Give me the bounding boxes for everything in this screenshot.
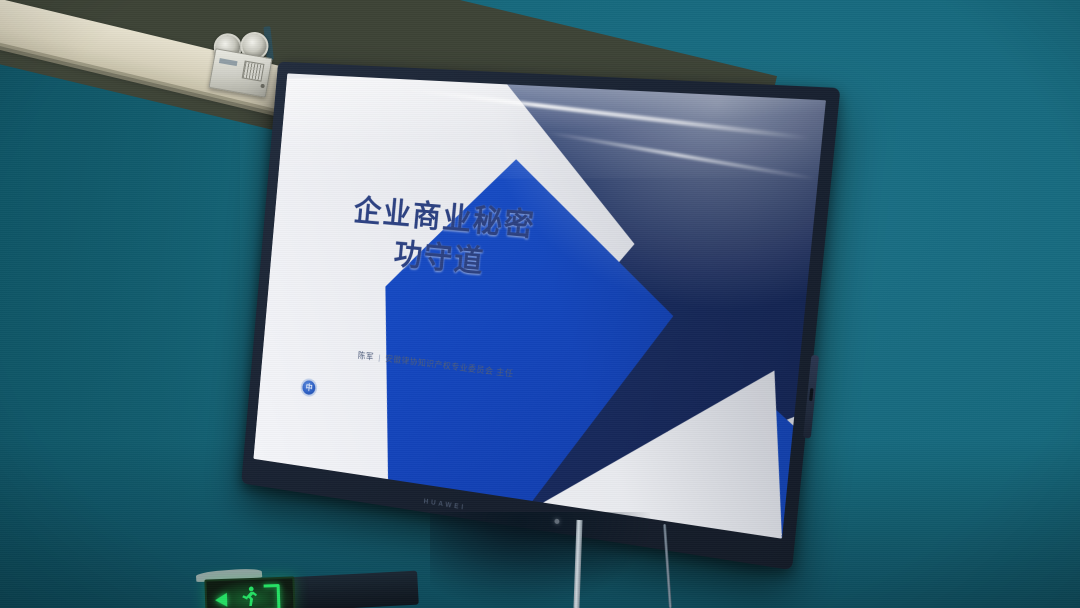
exit-door-icon: [264, 584, 281, 608]
exit-arrow-icon: [215, 593, 227, 607]
running-person-icon: [240, 586, 259, 608]
presentation-slide: 企业商业秘密 功守道 陈军|安徽律协知识产权专业委员会 主任 中: [253, 73, 826, 538]
av-equipment-case: [287, 571, 419, 608]
presenter-name: 陈军: [357, 350, 374, 362]
display-brand-logo: HUAWEI: [423, 498, 466, 511]
slide-logo-badge-icon: 中: [302, 380, 316, 396]
presenter-separator: |: [378, 353, 381, 363]
display-screen[interactable]: 企业商业秘密 功守道 陈军|安徽律协知识产权专业委员会 主任 中: [253, 73, 826, 538]
display-bezel: 企业商业秘密 功守道 陈军|安徽律协知识产权专业委员会 主任 中 HUAWEI: [241, 62, 840, 571]
emergency-light-fixture: [205, 21, 279, 97]
emergency-light-indicator-icon: [260, 84, 265, 89]
emergency-light-label: [219, 58, 238, 66]
emergency-light-vent: [242, 61, 265, 82]
conference-room-photo: 企业商业秘密 功守道 陈军|安徽律协知识产权专业委员会 主任 中 HUAWEI: [0, 0, 1080, 608]
emergency-exit-sign: [204, 576, 295, 608]
display-mount-shadow: [430, 512, 650, 608]
interactive-flat-panel[interactable]: 企业商业秘密 功守道 陈军|安徽律协知识产权专业委员会 主任 中 HUAWEI: [241, 62, 840, 571]
